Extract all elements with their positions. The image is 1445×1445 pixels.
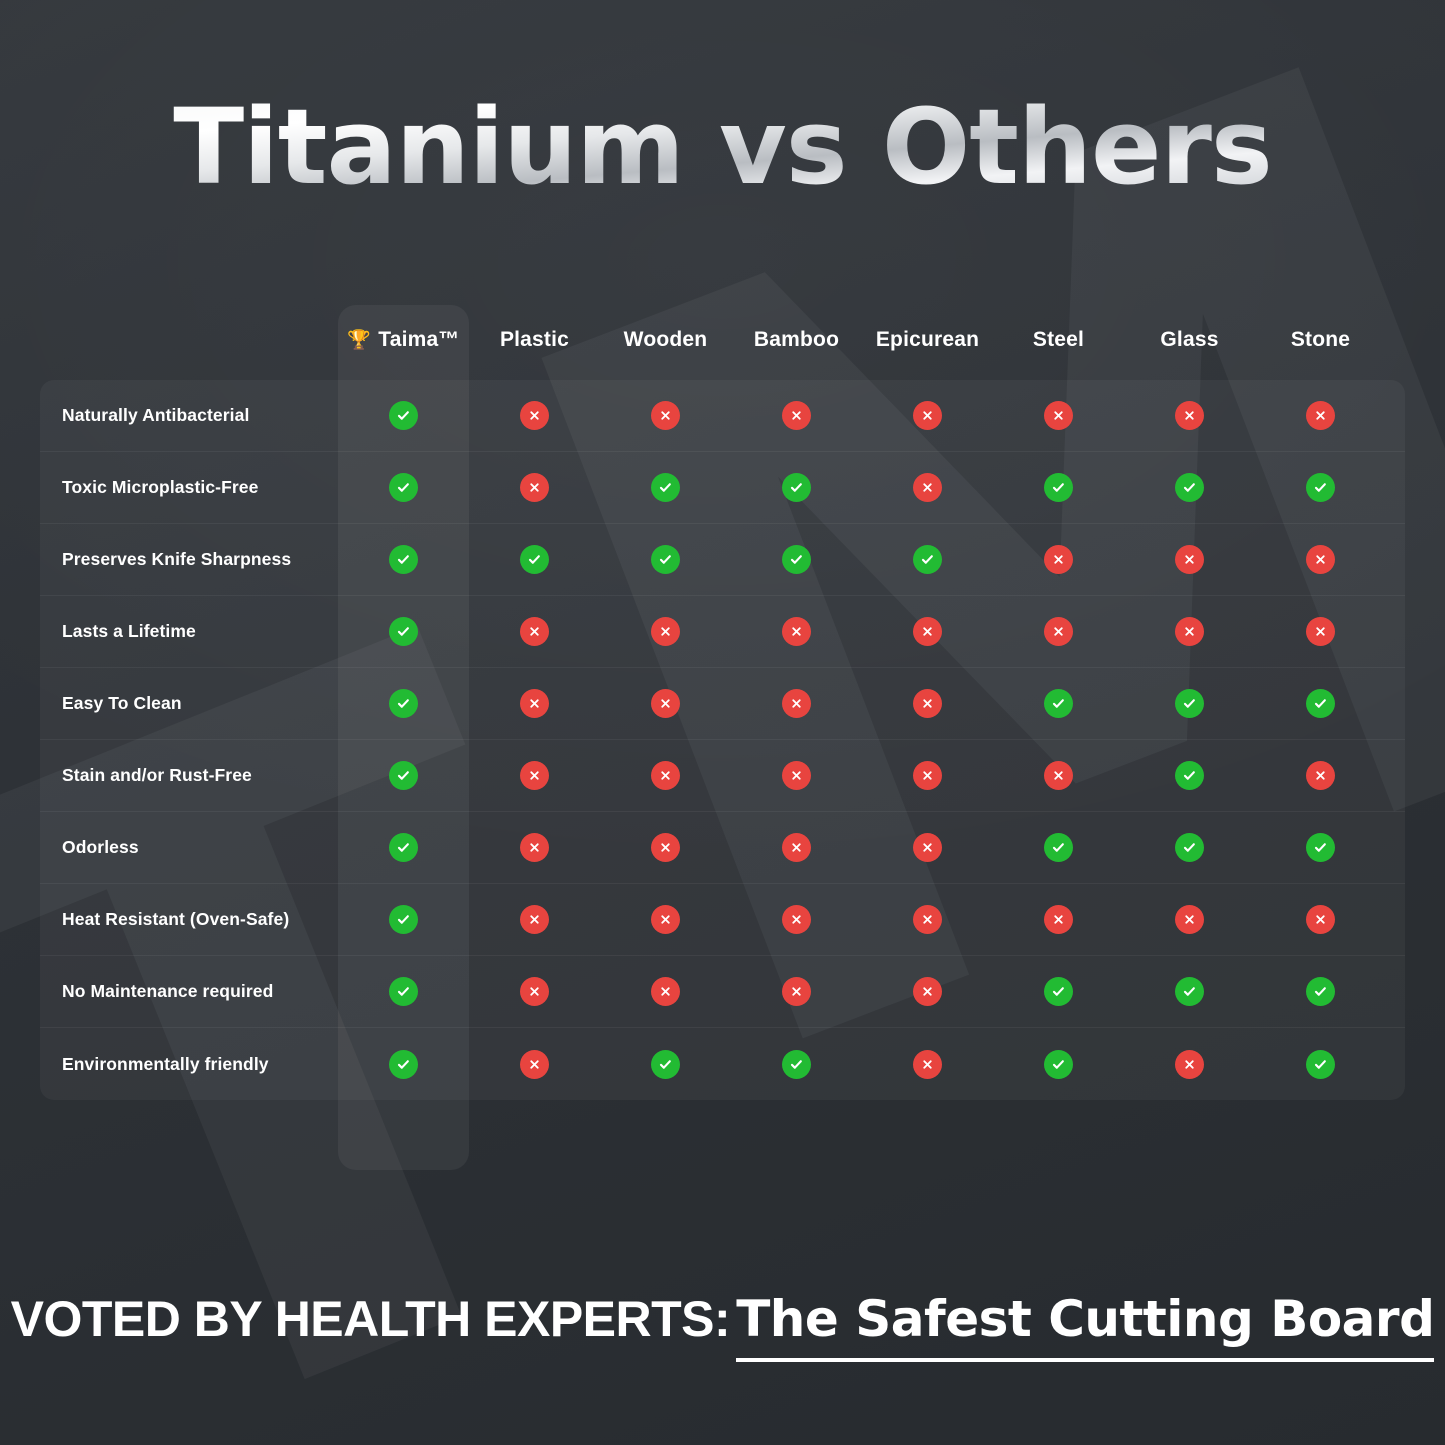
cross-icon bbox=[1175, 545, 1204, 574]
table-cell bbox=[1124, 473, 1255, 502]
table-cell bbox=[469, 473, 600, 502]
table-cell bbox=[862, 761, 993, 790]
cross-icon bbox=[913, 617, 942, 646]
table-cell bbox=[862, 905, 993, 934]
table-cell bbox=[469, 905, 600, 934]
table-row: Naturally Antibacterial bbox=[40, 380, 1405, 452]
table-cell bbox=[731, 473, 862, 502]
cross-icon bbox=[1044, 905, 1073, 934]
table-cell bbox=[1255, 761, 1386, 790]
check-icon bbox=[389, 545, 418, 574]
table-cell bbox=[338, 473, 469, 502]
cross-icon bbox=[782, 617, 811, 646]
table-cell bbox=[600, 977, 731, 1006]
check-icon bbox=[782, 1050, 811, 1079]
table-cell bbox=[600, 617, 731, 646]
row-label: Lasts a Lifetime bbox=[40, 621, 338, 642]
column-header-label: Taima™ bbox=[378, 328, 459, 352]
table-cell bbox=[600, 905, 731, 934]
cross-icon bbox=[520, 905, 549, 934]
table-cell bbox=[600, 545, 731, 574]
table-cell bbox=[731, 977, 862, 1006]
cross-icon bbox=[782, 761, 811, 790]
column-header-label: Steel bbox=[1033, 328, 1084, 352]
table-cell bbox=[1124, 401, 1255, 430]
cross-icon bbox=[913, 1050, 942, 1079]
table-cell bbox=[1124, 761, 1255, 790]
table-cell bbox=[731, 689, 862, 718]
check-icon bbox=[1175, 761, 1204, 790]
check-icon bbox=[1306, 977, 1335, 1006]
cross-icon bbox=[520, 689, 549, 718]
page-title: Titanium vs Others bbox=[173, 86, 1272, 208]
check-icon bbox=[1306, 473, 1335, 502]
column-header-bamboo: Bamboo bbox=[731, 328, 862, 352]
table-cell bbox=[1255, 689, 1386, 718]
column-header-taima: 🏆Taima™ bbox=[338, 328, 469, 352]
table-cell bbox=[731, 761, 862, 790]
table-cell bbox=[862, 833, 993, 862]
check-icon bbox=[389, 905, 418, 934]
page-title-wrap: Titanium vs Others bbox=[0, 86, 1445, 208]
check-icon bbox=[520, 545, 549, 574]
row-label: Stain and/or Rust-Free bbox=[40, 765, 338, 786]
table-cell bbox=[862, 473, 993, 502]
table-cell bbox=[1124, 833, 1255, 862]
column-header-label: Stone bbox=[1291, 328, 1350, 352]
cross-icon bbox=[1306, 617, 1335, 646]
check-icon bbox=[651, 545, 680, 574]
table-row: Preserves Knife Sharpness bbox=[40, 524, 1405, 596]
table-row: Toxic Microplastic-Free bbox=[40, 452, 1405, 524]
cross-icon bbox=[651, 689, 680, 718]
cross-icon bbox=[913, 833, 942, 862]
table-cell bbox=[731, 833, 862, 862]
table-cell bbox=[600, 689, 731, 718]
table-cell bbox=[469, 761, 600, 790]
cross-icon bbox=[520, 401, 549, 430]
table-cell bbox=[1124, 545, 1255, 574]
table-cell bbox=[1255, 617, 1386, 646]
cross-icon bbox=[1306, 401, 1335, 430]
cross-icon bbox=[1175, 401, 1204, 430]
check-icon bbox=[389, 689, 418, 718]
row-label: Environmentally friendly bbox=[40, 1054, 338, 1075]
check-icon bbox=[1175, 689, 1204, 718]
table-cell bbox=[338, 689, 469, 718]
table-cell bbox=[993, 761, 1124, 790]
check-icon bbox=[1044, 473, 1073, 502]
check-icon bbox=[913, 545, 942, 574]
row-label: Odorless bbox=[40, 837, 338, 858]
check-icon bbox=[1044, 977, 1073, 1006]
table-row: Easy To Clean bbox=[40, 668, 1405, 740]
cross-icon bbox=[520, 761, 549, 790]
table-cell bbox=[1255, 833, 1386, 862]
cross-icon bbox=[1044, 401, 1073, 430]
table-cell bbox=[469, 977, 600, 1006]
cross-icon bbox=[651, 833, 680, 862]
column-header-glass: Glass bbox=[1124, 328, 1255, 352]
table-row: Heat Resistant (Oven-Safe) bbox=[40, 884, 1405, 956]
table-cell bbox=[600, 761, 731, 790]
table-body: Naturally AntibacterialToxic Microplasti… bbox=[40, 380, 1405, 1100]
cross-icon bbox=[651, 401, 680, 430]
table-cell bbox=[469, 617, 600, 646]
cross-icon bbox=[1175, 1050, 1204, 1079]
cross-icon bbox=[651, 905, 680, 934]
cross-icon bbox=[782, 977, 811, 1006]
table-cell bbox=[862, 977, 993, 1006]
table-cell bbox=[731, 905, 862, 934]
table-cell bbox=[1255, 905, 1386, 934]
table-row: Stain and/or Rust-Free bbox=[40, 740, 1405, 812]
table-cell bbox=[338, 761, 469, 790]
cross-icon bbox=[1044, 617, 1073, 646]
check-icon bbox=[389, 833, 418, 862]
table-cell bbox=[993, 905, 1124, 934]
check-icon bbox=[1306, 833, 1335, 862]
check-icon bbox=[651, 1050, 680, 1079]
table-header-row: 🏆Taima™PlasticWoodenBambooEpicureanSteel… bbox=[40, 300, 1405, 380]
cross-icon bbox=[913, 401, 942, 430]
cross-icon bbox=[782, 401, 811, 430]
comparison-table: 🏆Taima™PlasticWoodenBambooEpicureanSteel… bbox=[40, 300, 1405, 1100]
cross-icon bbox=[913, 689, 942, 718]
column-header-steel: Steel bbox=[993, 328, 1124, 352]
row-label: Preserves Knife Sharpness bbox=[40, 549, 338, 570]
column-header-stone: Stone bbox=[1255, 328, 1386, 352]
column-header-label: Plastic bbox=[500, 328, 569, 352]
table-row: No Maintenance required bbox=[40, 956, 1405, 1028]
table-cell bbox=[1255, 473, 1386, 502]
cross-icon bbox=[1306, 545, 1335, 574]
table-cell bbox=[600, 833, 731, 862]
check-icon bbox=[389, 1050, 418, 1079]
table-cell bbox=[731, 545, 862, 574]
table-cell bbox=[469, 545, 600, 574]
column-header-wooden: Wooden bbox=[600, 328, 731, 352]
table-row: Lasts a Lifetime bbox=[40, 596, 1405, 668]
table-cell bbox=[338, 545, 469, 574]
table-cell bbox=[469, 401, 600, 430]
check-icon bbox=[389, 401, 418, 430]
row-label: Heat Resistant (Oven-Safe) bbox=[40, 909, 338, 930]
check-icon bbox=[1175, 833, 1204, 862]
table-cell bbox=[1255, 977, 1386, 1006]
trophy-icon: 🏆 bbox=[347, 331, 371, 350]
table-cell bbox=[338, 905, 469, 934]
row-label: Easy To Clean bbox=[40, 693, 338, 714]
check-icon bbox=[389, 761, 418, 790]
table-cell bbox=[993, 689, 1124, 718]
cross-icon bbox=[520, 1050, 549, 1079]
table-cell bbox=[993, 473, 1124, 502]
check-icon bbox=[1306, 1050, 1335, 1079]
table-cell bbox=[993, 977, 1124, 1006]
table-cell bbox=[1124, 1050, 1255, 1079]
table-cell bbox=[993, 401, 1124, 430]
check-icon bbox=[782, 473, 811, 502]
check-icon bbox=[389, 473, 418, 502]
table-row: Environmentally friendly bbox=[40, 1028, 1405, 1100]
row-label: Naturally Antibacterial bbox=[40, 405, 338, 426]
table-cell bbox=[600, 401, 731, 430]
cross-icon bbox=[1306, 761, 1335, 790]
table-cell bbox=[469, 689, 600, 718]
check-icon bbox=[1044, 1050, 1073, 1079]
column-header-epicurean: Epicurean bbox=[862, 328, 993, 352]
row-label: No Maintenance required bbox=[40, 981, 338, 1002]
row-label: Toxic Microplastic-Free bbox=[40, 477, 338, 498]
table-cell bbox=[993, 545, 1124, 574]
table-cell bbox=[731, 617, 862, 646]
check-icon bbox=[1175, 473, 1204, 502]
cross-icon bbox=[1175, 905, 1204, 934]
cross-icon bbox=[520, 473, 549, 502]
table-row: Odorless bbox=[40, 812, 1405, 884]
check-icon bbox=[651, 473, 680, 502]
table-cell bbox=[338, 977, 469, 1006]
table-cell bbox=[338, 1050, 469, 1079]
table-cell bbox=[993, 617, 1124, 646]
table-cell bbox=[1124, 977, 1255, 1006]
table-cell bbox=[862, 545, 993, 574]
cross-icon bbox=[520, 833, 549, 862]
table-cell bbox=[1255, 545, 1386, 574]
column-header-label: Bamboo bbox=[754, 328, 839, 352]
table-cell bbox=[1124, 617, 1255, 646]
check-icon bbox=[389, 977, 418, 1006]
cross-icon bbox=[1175, 617, 1204, 646]
column-header-label: Wooden bbox=[624, 328, 708, 352]
table-cell bbox=[731, 1050, 862, 1079]
table-cell bbox=[469, 1050, 600, 1079]
cross-icon bbox=[913, 905, 942, 934]
cross-icon bbox=[1044, 545, 1073, 574]
column-header-label: Glass bbox=[1160, 328, 1218, 352]
table-cell bbox=[1124, 905, 1255, 934]
table-cell bbox=[1124, 689, 1255, 718]
table-cell bbox=[993, 1050, 1124, 1079]
cross-icon bbox=[782, 689, 811, 718]
table-cell bbox=[862, 689, 993, 718]
cross-icon bbox=[913, 473, 942, 502]
cross-icon bbox=[520, 617, 549, 646]
table-cell bbox=[338, 401, 469, 430]
table-cell bbox=[469, 833, 600, 862]
table-cell bbox=[338, 617, 469, 646]
table-cell bbox=[862, 617, 993, 646]
cross-icon bbox=[1044, 761, 1073, 790]
footer-lead: VOTED BY HEALTH EXPERTS: bbox=[11, 1291, 731, 1347]
column-header-label: Epicurean bbox=[876, 328, 979, 352]
table-cell bbox=[731, 401, 862, 430]
footer: VOTED BY HEALTH EXPERTS:The Safest Cutti… bbox=[0, 1290, 1445, 1348]
table-cell bbox=[600, 1050, 731, 1079]
check-icon bbox=[1306, 689, 1335, 718]
cross-icon bbox=[651, 977, 680, 1006]
table-cell bbox=[862, 401, 993, 430]
cross-icon bbox=[651, 761, 680, 790]
check-icon bbox=[1044, 833, 1073, 862]
table-cell bbox=[862, 1050, 993, 1079]
check-icon bbox=[782, 545, 811, 574]
check-icon bbox=[389, 617, 418, 646]
check-icon bbox=[1044, 689, 1073, 718]
table-cell bbox=[1255, 401, 1386, 430]
cross-icon bbox=[520, 977, 549, 1006]
table-cell bbox=[1255, 1050, 1386, 1079]
cross-icon bbox=[913, 977, 942, 1006]
cross-icon bbox=[782, 833, 811, 862]
cross-icon bbox=[782, 905, 811, 934]
footer-emphasis: The Safest Cutting Board bbox=[736, 1290, 1434, 1362]
cross-icon bbox=[913, 761, 942, 790]
cross-icon bbox=[651, 617, 680, 646]
table-cell bbox=[600, 473, 731, 502]
check-icon bbox=[1175, 977, 1204, 1006]
table-cell bbox=[993, 833, 1124, 862]
table-cell bbox=[338, 833, 469, 862]
cross-icon bbox=[1306, 905, 1335, 934]
column-header-plastic: Plastic bbox=[469, 328, 600, 352]
